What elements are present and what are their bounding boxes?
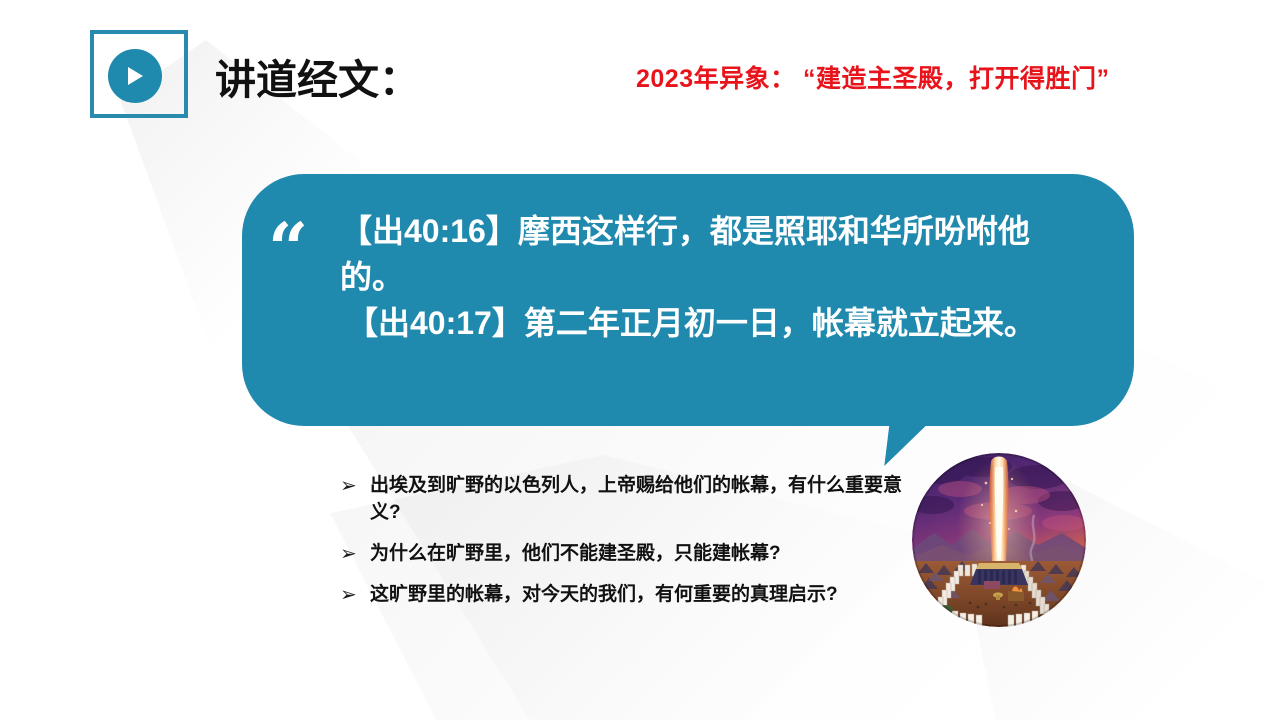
question-text: 出埃及到旷野的以色列人，上帝赐给他们的帐幕，有什么重要意义?: [370, 472, 920, 526]
list-item: ➢ 出埃及到旷野的以色列人，上帝赐给他们的帐幕，有什么重要意义?: [340, 472, 920, 526]
arrow-bullet-icon: ➢: [340, 540, 370, 567]
quote-mark-icon: “: [268, 214, 308, 284]
vision-statement: 2023年异象： “建造主圣殿，打开得胜门”: [636, 59, 1110, 95]
scripture-line-2: 【出40:17】第二年正月初一日，帐幕就立起来。: [340, 300, 1060, 346]
page-title: 讲道经文：: [215, 46, 420, 106]
scripture-line-1: 【出40:16】摩西这样行，都是照耶和华所吩咐他的。: [340, 208, 1060, 300]
arrow-bullet-icon: ➢: [340, 472, 370, 499]
list-item: ➢ 为什么在旷野里，他们不能建圣殿，只能建帐幕?: [340, 540, 920, 567]
play-button-icon[interactable]: [108, 49, 162, 103]
speech-bubble-tail: [884, 422, 929, 466]
arrow-bullet-icon: ➢: [340, 581, 370, 608]
slide-canvas: 讲道经文： 2023年异象： “建造主圣殿，打开得胜门” “ 【出40:16】摩…: [0, 0, 1280, 720]
scripture-text: 【出40:16】摩西这样行，都是照耶和华所吩咐他的。 【出40:17】第二年正月…: [340, 208, 1060, 346]
question-list: ➢ 出埃及到旷野的以色列人，上帝赐给他们的帐幕，有什么重要意义? ➢ 为什么在旷…: [340, 472, 920, 622]
tabernacle-wilderness-illustration: [912, 453, 1086, 627]
list-item: ➢ 这旷野里的帐幕，对今天的我们，有何重要的真理启示?: [340, 581, 920, 608]
question-text: 这旷野里的帐幕，对今天的我们，有何重要的真理启示?: [370, 581, 920, 608]
question-text: 为什么在旷野里，他们不能建圣殿，只能建帐幕?: [370, 540, 920, 567]
